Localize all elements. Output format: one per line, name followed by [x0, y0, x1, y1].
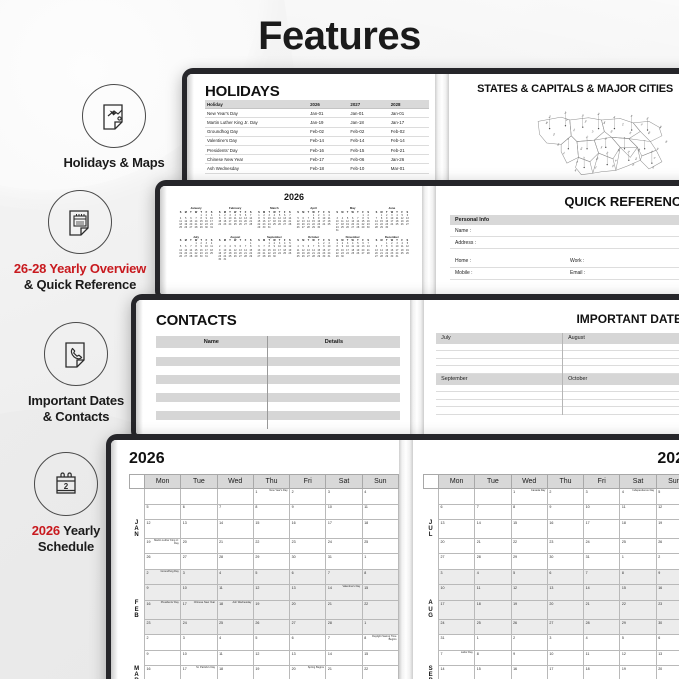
day-cell: 12: [253, 585, 289, 601]
day-cell: 5: [620, 635, 656, 651]
mini-week-row: 25262728293031: [178, 226, 214, 229]
day-number: 13: [292, 586, 296, 590]
write-line: [436, 366, 562, 374]
day-cell: 29: [620, 619, 656, 635]
map-state-label: CA: [552, 132, 556, 136]
feature-yearly-schedule: 2 2026 Yearly Schedule: [0, 452, 146, 555]
day-cell: 19: [511, 600, 547, 619]
month-column-header: [424, 475, 439, 489]
day-cell: 3: [439, 569, 475, 585]
day-number: 1: [364, 555, 366, 559]
map-state-label: AR: [574, 168, 578, 172]
day-cell: 7: [217, 504, 253, 520]
mini-month-name: June: [374, 206, 410, 210]
write-line: [563, 351, 679, 359]
day-cell: 28: [475, 554, 511, 570]
weekday-header: Thu: [547, 475, 583, 489]
week-row: 24252627282930: [424, 619, 679, 635]
day-cell: 17St. Patrick's Day: [181, 666, 217, 679]
day-cell: 16: [511, 666, 547, 679]
day-event: Independence Day: [632, 490, 654, 493]
holiday-date: Feb-14: [389, 136, 429, 145]
day-cell: 2: [656, 554, 679, 570]
overview-year: 2026: [174, 192, 414, 202]
day-cell: 9: [290, 504, 326, 520]
mini-month-name: November: [335, 235, 371, 239]
contact-name-cell: [156, 375, 267, 384]
important-dates-month: September: [436, 374, 563, 415]
holiday-date: Jan-01: [348, 109, 388, 118]
month-abbr-cell: [130, 569, 145, 585]
day-cell: 12: [620, 650, 656, 666]
mini-month-name: October: [296, 235, 332, 239]
day-number: 2: [292, 490, 294, 494]
day-cell: 21: [217, 538, 253, 554]
day-cell: 8: [620, 569, 656, 585]
day-cell: 2Groundhog Day: [145, 569, 181, 585]
day-cell: 11: [362, 504, 398, 520]
day-number: 2: [147, 571, 149, 575]
month-abbr-cell: [424, 504, 439, 520]
week-row: 9101112131415: [130, 650, 399, 666]
holiday-date: Jan-01: [308, 109, 348, 118]
important-dates-grid: JulyAugustSeptemberOctober: [436, 333, 679, 415]
day-cell: 22: [362, 666, 398, 679]
states-heading: STATES & CAPITALS & MAJOR CITIES: [461, 83, 679, 95]
contact-name-cell: [156, 348, 267, 357]
day-number: 22: [513, 540, 517, 544]
day-cell: 20: [439, 538, 475, 554]
day-number: 13: [658, 652, 662, 656]
day-number: 6: [183, 505, 185, 509]
month-abbr-cell: MAR: [130, 666, 145, 679]
day-cell: 18: [620, 520, 656, 539]
day-cell: 20Spring Begins: [290, 666, 326, 679]
day-cell: 2: [145, 635, 181, 651]
day-number: 19: [658, 521, 662, 525]
day-number: 7: [219, 505, 221, 509]
personal-info-row: Address :: [450, 237, 679, 249]
contact-name-cell: [156, 357, 267, 366]
holiday-date: Jan-01: [389, 109, 429, 118]
table-header-row: MonTueWedThuFriSatSun: [424, 475, 679, 489]
mini-day: [209, 255, 214, 258]
day-cell: 19: [253, 666, 289, 679]
day-cell: 27: [290, 619, 326, 635]
row-spacer: [450, 249, 679, 256]
map-state-label: PA: [627, 149, 631, 153]
contact-details-cell: [267, 384, 400, 393]
day-cell: [217, 489, 253, 505]
day-cell: 5: [253, 569, 289, 585]
day-cell: 15: [362, 650, 398, 666]
day-number: 20: [549, 602, 553, 606]
day-cell: 15: [362, 585, 398, 601]
day-cell: 1: [362, 554, 398, 570]
day-number: 25: [477, 621, 481, 625]
day-number: 27: [441, 555, 445, 559]
month-abbr-cell: SEP: [424, 666, 439, 679]
contact-details-cell: [267, 348, 400, 357]
table-row: [156, 348, 400, 357]
day-number: 24: [328, 540, 332, 544]
day-number: 10: [441, 586, 445, 590]
day-cell: 24: [439, 619, 475, 635]
map-state-label: WV: [581, 146, 585, 150]
day-number: 9: [147, 652, 149, 656]
column-header: 2026: [308, 100, 348, 109]
write-line: [563, 366, 679, 374]
table-row: Valentine's DayFeb-14Feb-14Feb-14: [205, 136, 429, 145]
day-number: 15: [513, 521, 517, 525]
write-line: [436, 344, 562, 352]
day-number: 20: [441, 540, 445, 544]
mini-month: JanuarySMTWTFS12345678910111213141516171…: [178, 206, 214, 233]
write-line: [563, 392, 679, 400]
day-number: 13: [549, 586, 553, 590]
book-gutter: [399, 440, 413, 679]
map-state-label: KS: [657, 147, 660, 151]
table-row: Ash WednesdayFeb-18Feb-10Mar-01: [205, 164, 429, 173]
column-header: Details: [267, 336, 400, 348]
holiday-date: Feb-02: [348, 127, 388, 136]
table-row: Groundhog DayFeb-02Feb-02Feb-02: [205, 127, 429, 136]
mini-week-row: 2930: [335, 255, 371, 258]
map-state-label: VA: [600, 145, 604, 149]
day-event: St. Patrick's Day: [196, 667, 215, 670]
map-state-label: ND: [582, 114, 585, 118]
day-event: Spring Begins: [308, 667, 324, 670]
day-cell: 15: [475, 666, 511, 679]
day-number: 7: [586, 571, 588, 575]
phone-page-icon: [44, 322, 108, 386]
day-number: 19: [255, 602, 259, 606]
holiday-date: Feb-14: [348, 136, 388, 145]
day-number: 1: [364, 621, 366, 625]
day-number: 24: [586, 540, 590, 544]
day-number: 31: [328, 555, 332, 559]
day-cell: 18: [217, 666, 253, 679]
mini-day: [287, 226, 292, 229]
map-state-label: MT: [565, 111, 568, 115]
mini-month-table: SMTWTFS123456789101112131415161718192021…: [335, 239, 371, 258]
write-line: [436, 407, 562, 415]
day-number: 21: [586, 602, 590, 606]
important-dates-heading: IMPORTANT DATES: [436, 312, 679, 326]
mini-day: [405, 255, 410, 258]
field-label: Work :: [570, 258, 679, 264]
week-row: 272829303112: [424, 554, 679, 570]
day-number: 5: [255, 636, 257, 640]
day-number: 3: [586, 490, 588, 494]
weekday-header: Sun: [656, 475, 679, 489]
day-cell: 4: [217, 635, 253, 651]
day-cell: [181, 489, 217, 505]
day-number: 15: [477, 667, 481, 671]
table-row: Martin Luther King Jr. DayJan-19Jan-18Ja…: [205, 118, 429, 127]
day-cell: 4: [584, 635, 620, 651]
mini-month-name: December: [374, 235, 410, 239]
contact-name-cell: [156, 366, 267, 375]
holiday-date: Feb-10: [348, 164, 388, 173]
day-number: 10: [183, 586, 187, 590]
day-cell: 12: [656, 504, 679, 520]
day-cell: 28: [326, 619, 362, 635]
day-cell: 5: [511, 569, 547, 585]
day-number: 30: [549, 555, 553, 559]
day-cell: 2: [290, 489, 326, 505]
table-row: [156, 393, 400, 402]
mini-month-table: SMTWTFS123456789101112131415161718192021…: [256, 211, 292, 230]
day-number: 10: [586, 505, 590, 509]
day-cell: 17: [547, 666, 583, 679]
day-number: 17: [328, 521, 332, 525]
day-cell: 16: [656, 585, 679, 601]
day-cell: 22: [620, 600, 656, 619]
day-number: 27: [292, 621, 296, 625]
mini-calendar-grid: JanuarySMTWTFS12345678910111213141516171…: [174, 206, 414, 261]
table-row: [156, 375, 400, 384]
day-number: 17: [183, 602, 187, 606]
field-label: Name :: [455, 228, 570, 234]
day-cell: 10: [326, 504, 362, 520]
day-cell: 15: [620, 585, 656, 601]
mini-day: 26: [400, 223, 405, 226]
column-header: 2028: [389, 100, 429, 109]
day-number: 4: [477, 571, 479, 575]
notebook-spread-overview: 2026 JanuarySMTWTFS123456789101112131415…: [155, 180, 679, 302]
map-state-label: KY: [563, 151, 566, 155]
day-number: 10: [328, 505, 332, 509]
write-line: [563, 344, 679, 352]
day-number: 30: [658, 621, 662, 625]
quick-reference-heading: QUICK REFERENCE: [450, 194, 679, 209]
day-cell: 25: [475, 619, 511, 635]
write-line: [563, 407, 679, 415]
day-cell: 27: [439, 554, 475, 570]
map-state-label: FL: [654, 156, 657, 159]
day-cell: 21: [584, 600, 620, 619]
mini-month-table: SMTWTFS123456789101112131415161718192021…: [217, 239, 253, 261]
day-cell: 1New Year's Day: [253, 489, 289, 505]
holiday-date: Jan-18: [348, 118, 388, 127]
mini-day: 31: [209, 226, 214, 229]
day-number: 2: [147, 636, 149, 640]
day-cell: 25: [362, 538, 398, 554]
day-number: 3: [183, 636, 185, 640]
day-number: 19: [513, 602, 517, 606]
mini-month: DecemberSMTWTFS1234567891011121314151617…: [374, 235, 410, 262]
mini-week-row: 262728293031: [178, 255, 214, 258]
feature-important-dates: Important Dates & Contacts: [0, 322, 156, 425]
day-number: 22: [622, 602, 626, 606]
book-gutter: [435, 74, 449, 185]
holiday-date: Feb-16: [308, 145, 348, 154]
holiday-date: Jan-26: [389, 155, 429, 164]
feature-label-line2: Schedule: [38, 539, 94, 554]
day-cell: 26: [511, 619, 547, 635]
personal-info-rows: Name :Address :Home :Work :Mobile :Email…: [450, 225, 679, 279]
weekday-header: Fri: [584, 475, 620, 489]
mini-month: MaySMTWTFS123456789101112131415161718192…: [335, 206, 371, 233]
day-number: 8: [622, 571, 624, 575]
day-number: 6: [441, 505, 443, 509]
day-number: 15: [255, 521, 259, 525]
day-number: 23: [658, 602, 662, 606]
day-cell: 29: [253, 554, 289, 570]
write-line: [436, 351, 562, 359]
day-number: 11: [219, 586, 223, 590]
write-line: [563, 400, 679, 408]
day-cell: 11: [620, 504, 656, 520]
mini-month-name: May: [335, 206, 371, 210]
day-cell: 18: [362, 520, 398, 539]
holiday-name: Groundhog Day: [205, 127, 308, 136]
mini-month-table: SMTWTFS123456789101112131415161718192021…: [256, 239, 292, 258]
day-number: 6: [549, 571, 551, 575]
day-cell: 10: [584, 504, 620, 520]
map-page-icon: [82, 84, 146, 148]
weekday-header: Mon: [145, 475, 181, 489]
mini-week-row: 2728293031: [374, 255, 410, 258]
contact-details-cell: [267, 420, 400, 429]
day-number: 25: [622, 540, 626, 544]
day-number: 6: [292, 636, 294, 640]
day-cell: 1: [475, 635, 511, 651]
mini-week-row: 27282930: [256, 255, 292, 258]
day-number: 8: [364, 571, 366, 575]
important-dates-month: July: [436, 333, 563, 374]
day-cell: 1: [620, 554, 656, 570]
day-number: 12: [513, 586, 517, 590]
personal-info-row: Home :Work :: [450, 256, 679, 268]
week-row: AUG17181920212223: [424, 600, 679, 619]
notebook-spread-holidays: HOLIDAYS Holiday202620272028 New Year's …: [182, 68, 679, 191]
day-number: 14: [328, 652, 332, 656]
mini-month: FebruarySMTWTFS1234567891011121314151617…: [217, 206, 253, 233]
day-cell: 7Labor Day: [439, 650, 475, 666]
feature-label: 2026 Yearly Schedule: [0, 523, 146, 555]
month-abbr-cell: [424, 554, 439, 570]
day-cell: 26: [145, 554, 181, 570]
mini-month: NovemberSMTWTFS1234567891011121314151617…: [335, 235, 371, 262]
day-number: 1: [513, 490, 515, 494]
mini-month-name: April: [296, 206, 332, 210]
day-cell: 9: [145, 585, 181, 601]
day-event: Chinese New Year: [194, 602, 215, 605]
weekday-header: Tue: [181, 475, 217, 489]
personal-info-row: Name :: [450, 225, 679, 237]
feature-label-accent: 26-28 Yearly Overview: [14, 261, 146, 276]
map-state-label: AZ: [617, 148, 621, 152]
month-abbr-cell: [130, 554, 145, 570]
day-number: 17: [183, 667, 187, 671]
feature-label: Important Dates & Contacts: [0, 393, 156, 425]
month-abbr-cell: AUG: [424, 600, 439, 619]
day-cell: 10: [181, 585, 217, 601]
day-cell: 20: [181, 538, 217, 554]
day-cell: 8: [253, 504, 289, 520]
day-event: Martin Luther King Jr. Day: [153, 540, 178, 546]
contact-name-cell: [156, 411, 267, 420]
month-abbr-cell: [424, 635, 439, 651]
page-yearly-overview: 2026 JanuarySMTWTFS123456789101112131415…: [160, 186, 422, 296]
day-cell: 26: [253, 619, 289, 635]
map-state-label: UT: [592, 129, 595, 133]
day-number: 20: [183, 540, 187, 544]
day-cell: 8: [362, 569, 398, 585]
day-cell: 16: [547, 520, 583, 539]
week-row: 7Labor Day8910111213: [424, 650, 679, 666]
day-cell: 31: [439, 635, 475, 651]
day-number: 13: [441, 521, 445, 525]
day-cell: 3: [181, 569, 217, 585]
day-cell: 13: [290, 650, 326, 666]
day-number: 17: [441, 602, 445, 606]
page-contacts: CONTACTS NameDetails: [136, 300, 410, 436]
map-state-label: MA: [603, 120, 607, 125]
day-cell: 17: [439, 600, 475, 619]
personal-info-row: Mobile :Email :: [450, 268, 679, 280]
day-cell: 3: [181, 635, 217, 651]
weekday-header: Thu: [253, 475, 289, 489]
day-cell: 4: [362, 489, 398, 505]
day-number: 17: [549, 667, 553, 671]
day-cell: 25: [620, 538, 656, 554]
week-row: MAR1617St. Patrick's Day181920Spring Beg…: [130, 666, 399, 679]
notebook-spread-schedule: 2026 MonTueWedThuFriSatSun 1New Year's D…: [106, 434, 679, 679]
page-title: Features: [0, 14, 679, 59]
day-number: 9: [549, 505, 551, 509]
contact-details-cell: [267, 375, 400, 384]
day-cell: 9: [656, 569, 679, 585]
weekday-header: Wed: [511, 475, 547, 489]
day-number: 4: [219, 636, 221, 640]
day-cell: 29: [511, 554, 547, 570]
day-cell: [439, 489, 475, 505]
day-cell: 22: [253, 538, 289, 554]
day-number: 16: [147, 602, 151, 606]
day-number: 8: [513, 505, 515, 509]
write-line: [436, 385, 562, 393]
feature-label: 26-28 Yearly Overview & Quick Reference: [0, 261, 160, 293]
month-abbr-cell: JUL: [424, 520, 439, 539]
day-cell: 17: [584, 520, 620, 539]
feature-label-line2: & Quick Reference: [24, 277, 136, 292]
day-number: 14: [477, 521, 481, 525]
day-number: 15: [364, 586, 368, 590]
day-cell: 5: [145, 504, 181, 520]
day-number: 18: [586, 667, 590, 671]
important-dates-month: October: [563, 374, 679, 415]
day-number: 4: [622, 490, 624, 494]
holiday-date: Feb-02: [389, 127, 429, 136]
page-states-capitals: STATES & CAPITALS & MAJOR CITIES: [449, 74, 679, 185]
holiday-date: Mar-01: [389, 164, 429, 173]
day-number: 6: [292, 571, 294, 575]
map-state-label: MS: [597, 157, 600, 161]
day-cell: 23: [290, 538, 326, 554]
day-number: 2: [513, 636, 515, 640]
day-cell: 4: [475, 569, 511, 585]
day-cell: 17Chinese New Year: [181, 600, 217, 619]
day-number: 2: [658, 555, 660, 559]
map-state-label: MN: [598, 112, 601, 116]
field-label: Mobile :: [455, 270, 570, 276]
day-cell: 20: [547, 600, 583, 619]
holidays-heading: HOLIDAYS: [205, 83, 429, 100]
day-cell: 15: [253, 520, 289, 539]
